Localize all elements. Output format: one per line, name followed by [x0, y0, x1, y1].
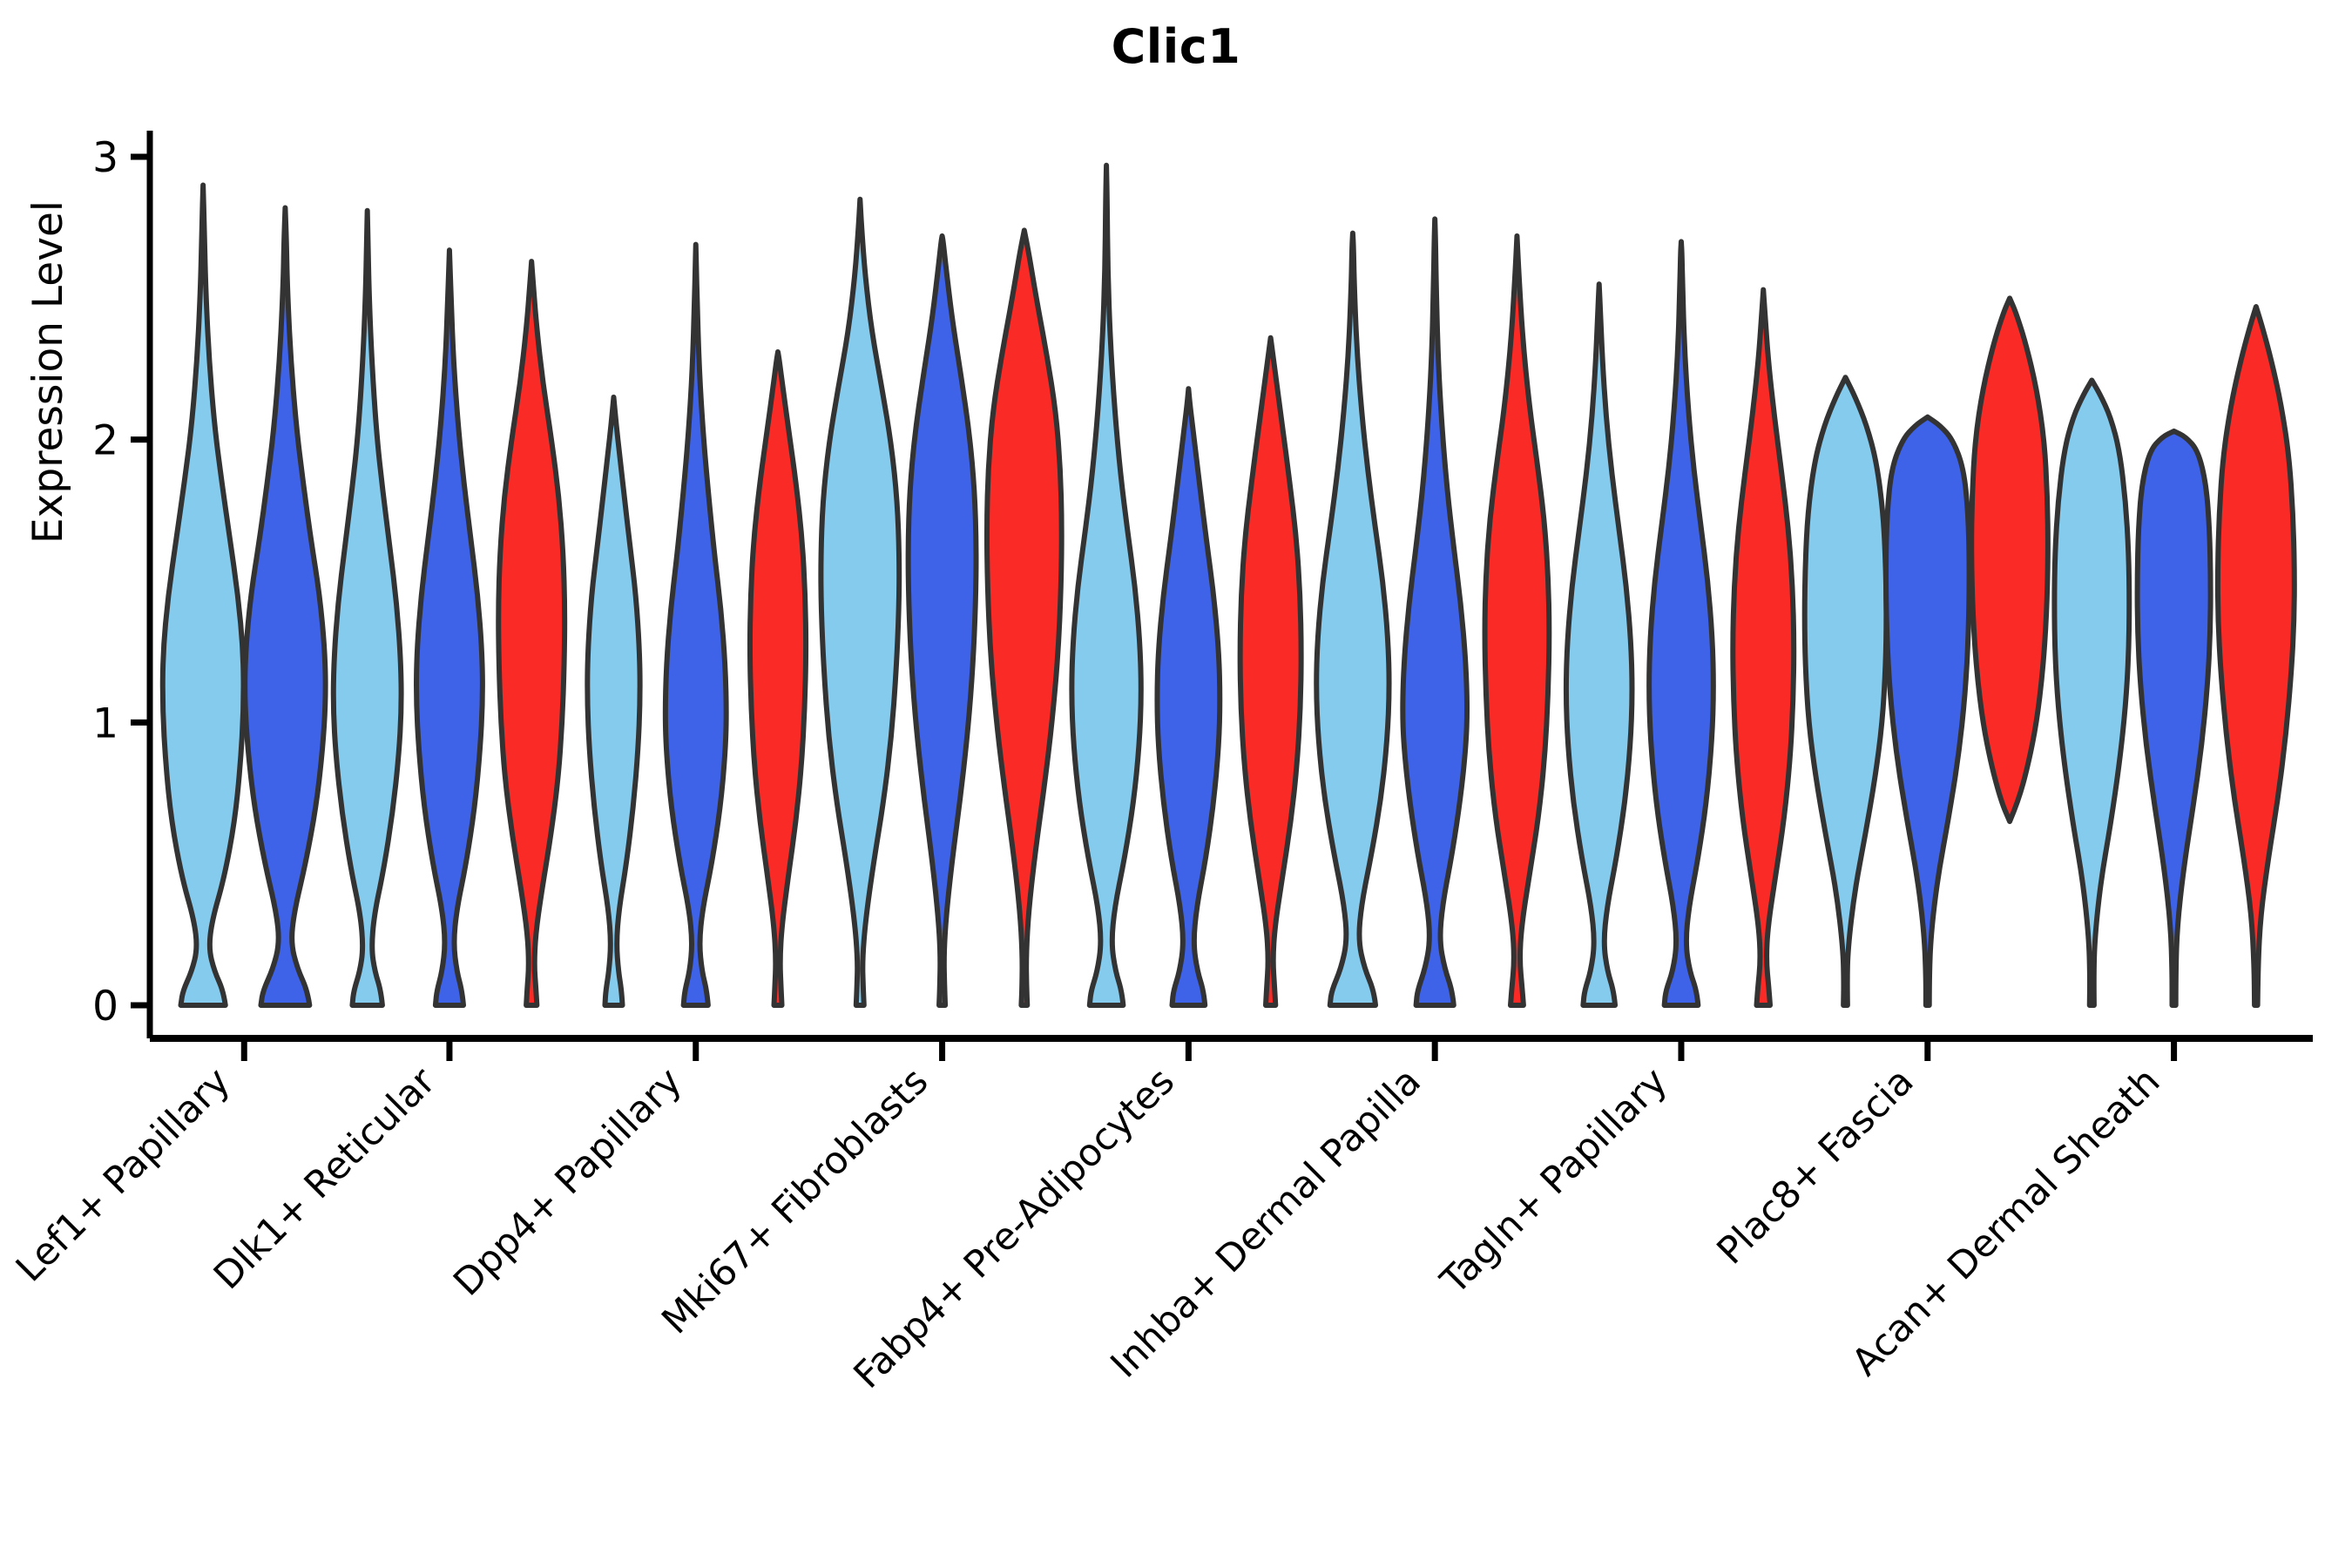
y-tick-label: 3 — [92, 134, 118, 182]
violin-red — [750, 352, 806, 1005]
y-tick-label: 1 — [92, 700, 118, 747]
x-tick-labels: Lef1+ PapillaryDlk1+ ReticularDpp4+ Papi… — [8, 1059, 2168, 1397]
violin-light_blue — [1071, 166, 1140, 1005]
violin-red — [498, 261, 564, 1005]
violin-light_blue — [163, 185, 244, 1005]
violin-light_blue — [334, 211, 402, 1005]
violin-light_blue — [821, 199, 899, 1005]
violin-plot-figure: Clic1 Expression Level 0123 Lef1+ Papill… — [0, 0, 2352, 1568]
x-tick-label: Lef1+ Papillary — [8, 1059, 239, 1290]
violin-light_blue — [1805, 377, 1887, 1005]
violin-red — [1240, 338, 1301, 1005]
x-tick-label: Tagln+ Papillary — [1432, 1059, 1676, 1303]
violin-light_blue — [2054, 380, 2129, 1005]
violin-royal_blue — [909, 236, 977, 1005]
violin-royal_blue — [666, 245, 727, 1005]
violin-royal_blue — [416, 250, 483, 1005]
violin-red — [1485, 236, 1550, 1005]
violin-red — [1971, 298, 2048, 821]
violin-red — [1733, 290, 1794, 1005]
violin-light_blue — [587, 397, 639, 1005]
violin-light_blue — [1566, 284, 1632, 1005]
y-tick-labels: 0123 — [92, 134, 118, 1031]
x-tick-label: Dlk1+ Reticular — [206, 1059, 444, 1298]
violin-royal_blue — [1649, 241, 1713, 1005]
violin-royal_blue — [2138, 431, 2211, 1005]
violin-royal_blue — [245, 207, 325, 1005]
x-tick-label: Mki67+ Fibroblasts — [653, 1059, 936, 1342]
violin-red — [987, 230, 1062, 1005]
x-tick-label: Dpp4+ Papillary — [445, 1059, 690, 1304]
violin-royal_blue — [1886, 417, 1970, 1005]
violins-layer — [163, 166, 2295, 1005]
violin-royal_blue — [1157, 389, 1220, 1005]
violin-royal_blue — [1402, 219, 1467, 1005]
y-tick-label: 2 — [92, 417, 118, 465]
violin-light_blue — [1316, 233, 1389, 1005]
violin-chart-canvas: 0123 Lef1+ PapillaryDlk1+ ReticularDpp4+… — [0, 0, 2352, 1568]
y-tick-label: 0 — [92, 983, 118, 1031]
x-tick-label: Plac8+ Fascia — [1709, 1059, 1923, 1273]
violin-red — [2218, 307, 2295, 1005]
